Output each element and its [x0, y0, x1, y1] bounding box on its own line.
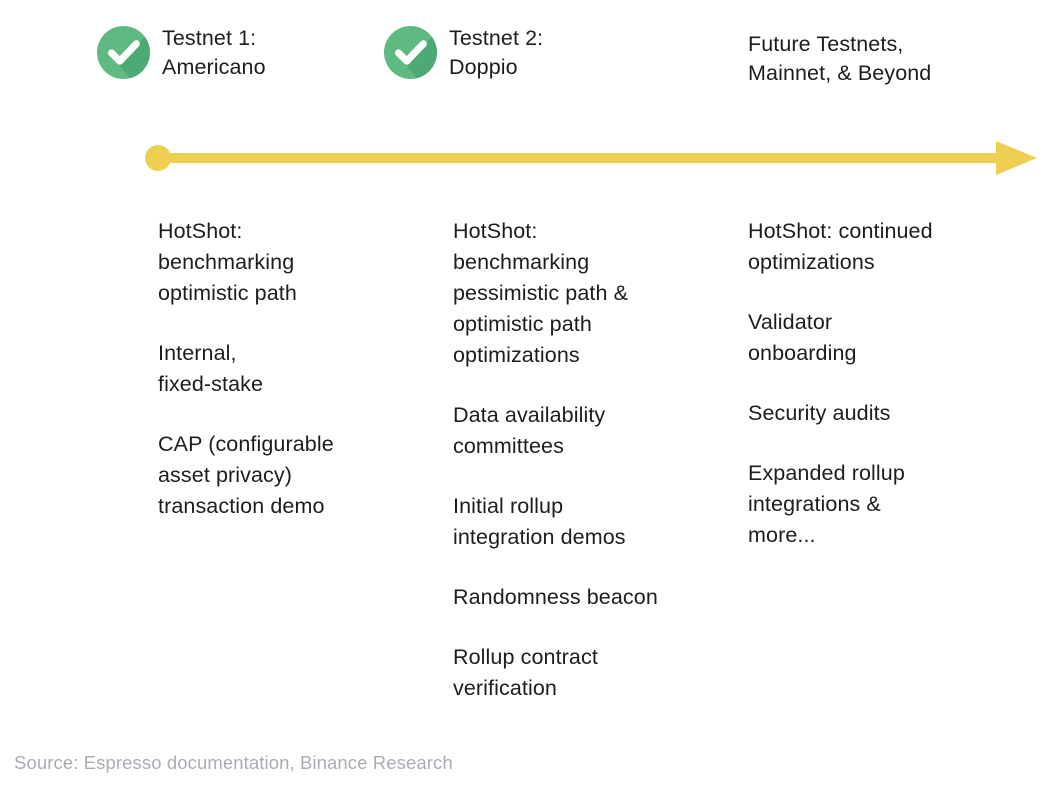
- list-item: Expanded rollup integrations & more...: [748, 458, 998, 551]
- phase-header-1: Testnet 1: Americano: [97, 24, 266, 82]
- check-circle-icon: [97, 26, 150, 79]
- phase-title-3: Future Testnets, Mainnet, & Beyond: [748, 30, 931, 88]
- list-item: HotShot: benchmarking pessimistic path &…: [453, 216, 738, 371]
- phase-title-2: Testnet 2: Doppio: [449, 24, 543, 82]
- phase-column-1: HotShot: benchmarking optimistic path In…: [158, 216, 433, 522]
- list-item: Rollup contract verification: [453, 642, 738, 704]
- list-item: Initial rollup integration demos: [453, 491, 738, 553]
- list-item: Randomness beacon: [453, 582, 738, 613]
- phase-header-2: Testnet 2: Doppio: [384, 24, 543, 82]
- list-item: Data availability committees: [453, 400, 738, 462]
- list-item: Security audits: [748, 398, 998, 429]
- check-circle-icon: [384, 26, 437, 79]
- list-item: Internal, fixed-stake: [158, 338, 433, 400]
- timeline-arrowhead: [996, 141, 1037, 175]
- list-item: Validator onboarding: [748, 307, 998, 369]
- timeline-start-dot: [145, 145, 171, 171]
- phase-column-2: HotShot: benchmarking pessimistic path &…: [453, 216, 738, 704]
- phase-header-3: Future Testnets, Mainnet, & Beyond: [748, 30, 931, 88]
- list-item: HotShot: continued optimizations: [748, 216, 998, 278]
- phase-title-1: Testnet 1: Americano: [162, 24, 266, 82]
- source-note: Source: Espresso documentation, Binance …: [14, 751, 453, 775]
- timeline-line: [158, 153, 998, 163]
- phase-column-3: HotShot: continued optimizations Validat…: [748, 216, 998, 551]
- list-item: HotShot: benchmarking optimistic path: [158, 216, 433, 309]
- list-item: CAP (configurable asset privacy) transac…: [158, 429, 433, 522]
- timeline-arrow: [0, 128, 1054, 190]
- roadmap-diagram: Testnet 1: Americano Testnet 2: Doppio F…: [0, 0, 1054, 786]
